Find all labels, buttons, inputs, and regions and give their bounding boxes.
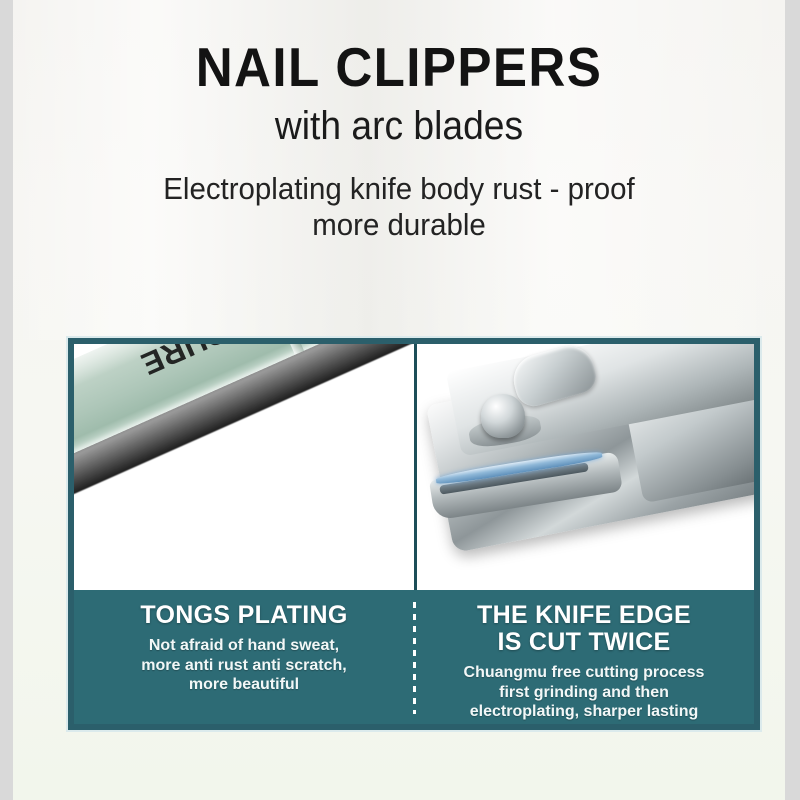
caption-tongs-plating: TONGS PLATING Not afraid of hand sweat, … xyxy=(74,590,414,724)
caption-body-line: more anti rust anti scratch, xyxy=(88,656,400,676)
caption-body-line: electroplating, sharper lasting xyxy=(428,702,740,722)
caption-knife-edge: THE KNIFE EDGE IS CUT TWICE Chuangmu fre… xyxy=(414,590,754,724)
page-canvas: NAIL CLIPPERS with arc blades Electropla… xyxy=(13,0,785,800)
header-block: NAIL CLIPPERS with arc blades Electropla… xyxy=(13,40,785,243)
page-subtitle: with arc blades xyxy=(40,104,758,149)
infographic-page: NAIL CLIPPERS with arc blades Electropla… xyxy=(0,0,800,800)
page-tagline: Electroplating knife body rust - proof m… xyxy=(32,171,765,243)
photo-tongs-plating: MANICURE xyxy=(74,344,414,590)
caption-body-line: first grinding and then xyxy=(428,683,740,703)
tagline-line-1: Electroplating knife body rust - proof xyxy=(32,171,765,207)
caption-body-line: more beautiful xyxy=(88,675,400,695)
page-title: NAIL CLIPPERS xyxy=(40,40,758,95)
photo-knife-edge xyxy=(414,344,754,590)
caption-title-left: TONGS PLATING xyxy=(88,602,400,629)
caption-title-right-line-1: THE KNIFE EDGE xyxy=(428,602,740,629)
clipper-pivot-pin xyxy=(481,394,525,438)
photo-row: MANICURE xyxy=(74,344,754,590)
caption-body-line: Chuangmu free cutting process xyxy=(428,663,740,683)
caption-title-right-line-2: IS CUT TWICE xyxy=(428,629,740,656)
tagline-line-2: more durable xyxy=(32,207,765,243)
caption-body-right: Chuangmu free cutting process first grin… xyxy=(428,663,740,722)
feature-card: MANICURE T xyxy=(68,338,760,730)
caption-band: TONGS PLATING Not afraid of hand sweat, … xyxy=(74,590,754,724)
dashed-divider xyxy=(413,602,416,714)
caption-title-right: THE KNIFE EDGE IS CUT TWICE xyxy=(428,602,740,656)
caption-body-line: Not afraid of hand sweat, xyxy=(88,636,400,656)
lever-crease xyxy=(260,344,304,355)
caption-body-left: Not afraid of hand sweat, more anti rust… xyxy=(88,636,400,695)
